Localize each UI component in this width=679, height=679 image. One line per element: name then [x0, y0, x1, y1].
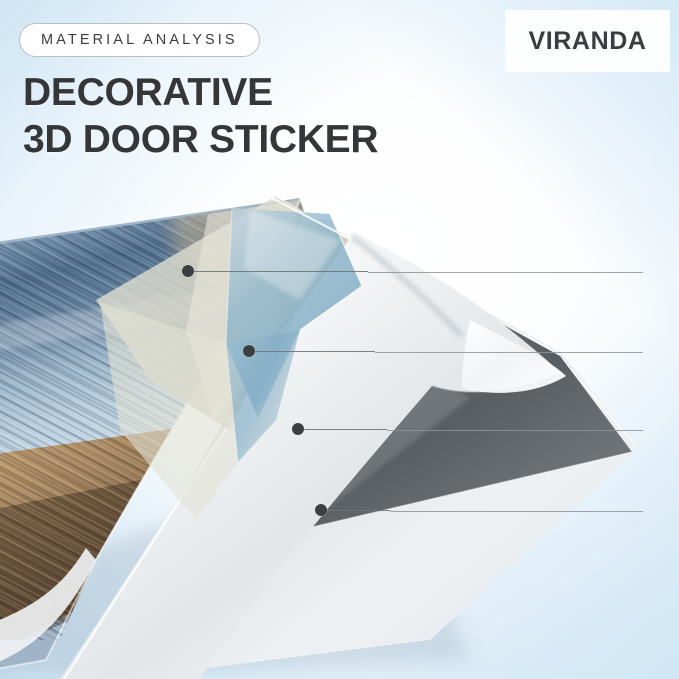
callout-dot-hd-pattern: [243, 345, 255, 357]
page-title: DECORATIVE 3D DOOR STICKER: [23, 69, 378, 163]
title-line-2: 3D DOOR STICKER: [23, 116, 378, 163]
badge-label: MATERIAL ANALYSIS: [41, 32, 238, 48]
callout-underline-hd-pattern: [375, 352, 643, 353]
material-analysis-badge: MATERIAL ANALYSIS: [19, 23, 260, 57]
callout-leader-line-backing: [327, 510, 390, 511]
callout-dot-bonding: [292, 423, 304, 435]
callout-dot-waterproof: [182, 265, 194, 277]
callout-leader-line-waterproof: [194, 271, 368, 272]
brand-name: VIRANDA: [528, 27, 646, 56]
callout-underline-bonding: [387, 430, 643, 431]
callout-dot-backing: [315, 504, 327, 516]
title-line-1: DECORATIVE: [23, 71, 273, 114]
callout-leader-line-bonding: [304, 429, 387, 430]
callout-underline-waterproof: [368, 272, 643, 273]
brand-logo: VIRANDA: [505, 10, 670, 72]
callout-underline-backing: [390, 511, 643, 512]
callout-leader-line-hd-pattern: [255, 351, 375, 352]
infographic-canvas: MATERIAL ANALYSIS DECORATIVE 3D DOOR STI…: [0, 0, 679, 679]
